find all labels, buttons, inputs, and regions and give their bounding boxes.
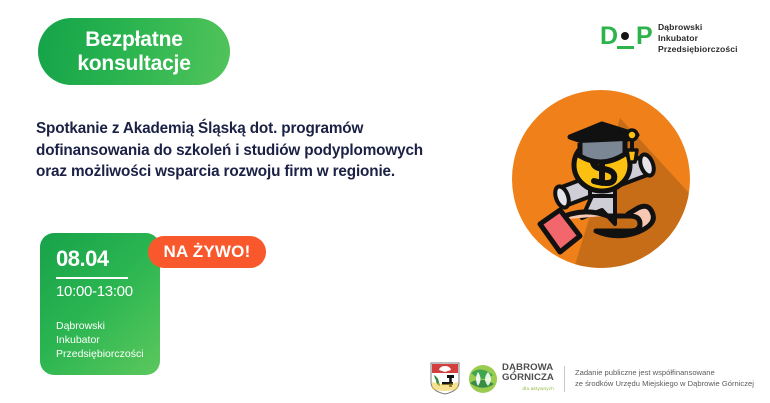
brand-name-line-1: Dąbrowski <box>658 22 738 33</box>
funding-note-line-2: ze środków Urzędu Miejskiego w Dąbrowie … <box>575 379 754 389</box>
dg-leaf-icon <box>468 364 498 394</box>
brand-name-line-3: Przedsiębiorczości <box>658 44 738 55</box>
monogram-dot-icon <box>621 32 629 40</box>
footer-divider <box>564 366 565 392</box>
funding-note-line-1: Zadanie publiczne jest współfinansowane <box>575 368 754 378</box>
headline-line-1: Spotkanie z Akademią Śląską dot. program… <box>36 118 496 140</box>
pill-line-1: Bezpłatne <box>85 28 182 52</box>
free-consultations-pill: Bezpłatne konsultacje <box>38 18 230 85</box>
dg-tagline: dla aktywnych <box>502 384 554 394</box>
monogram-underline-icon <box>617 46 634 49</box>
headline: Spotkanie z Akademią Śląską dot. program… <box>36 118 496 183</box>
date-divider <box>56 277 128 279</box>
headline-line-3: oraz możliwości wsparcia rozwoju firm w … <box>36 161 496 183</box>
organizer-line-1: Dąbrowski <box>56 319 144 333</box>
dg-line-2: GÓRNICZA <box>502 373 554 383</box>
event-time: 10:00-13:00 <box>56 283 133 300</box>
dip-monogram-icon: D P <box>600 22 652 52</box>
event-organizer: Dąbrowski Inkubator Przedsiębiorczości <box>56 319 144 361</box>
live-badge: NA ŻYWO! <box>148 236 266 268</box>
event-date: 08.04 <box>56 246 109 272</box>
monogram-letter-p: P <box>636 22 653 50</box>
dabrowa-gornicza-logo: DĄBROWA GÓRNICZA dla aktywnych <box>468 363 554 394</box>
coat-of-arms-icon <box>430 362 460 395</box>
brand-logo: D P Dąbrowski Inkubator Przedsiębiorczoś… <box>600 22 738 56</box>
dg-wordmark: DĄBROWA GÓRNICZA dla aktywnych <box>502 363 554 394</box>
brand-name-line-2: Inkubator <box>658 33 738 44</box>
footer-sponsors: DĄBROWA GÓRNICZA dla aktywnych Zadanie p… <box>430 362 754 395</box>
pill-line-2: konsultacje <box>77 52 190 76</box>
event-date-card: 08.04 10:00-13:00 Dąbrowski Inkubator Pr… <box>40 233 160 375</box>
organizer-line-3: Przedsiębiorczości <box>56 347 144 361</box>
organizer-line-2: Inkubator <box>56 333 144 347</box>
monogram-letter-d: D <box>600 22 618 50</box>
brand-name: Dąbrowski Inkubator Przedsiębiorczości <box>658 22 738 56</box>
funding-note: Zadanie publiczne jest współfinansowane … <box>575 368 754 389</box>
promo-banner: Bezpłatne konsultacje Spotkanie z Akadem… <box>0 0 770 403</box>
headline-line-2: dofinansowania do szkoleń i studiów pody… <box>36 140 496 162</box>
scholarship-illustration <box>512 90 690 268</box>
